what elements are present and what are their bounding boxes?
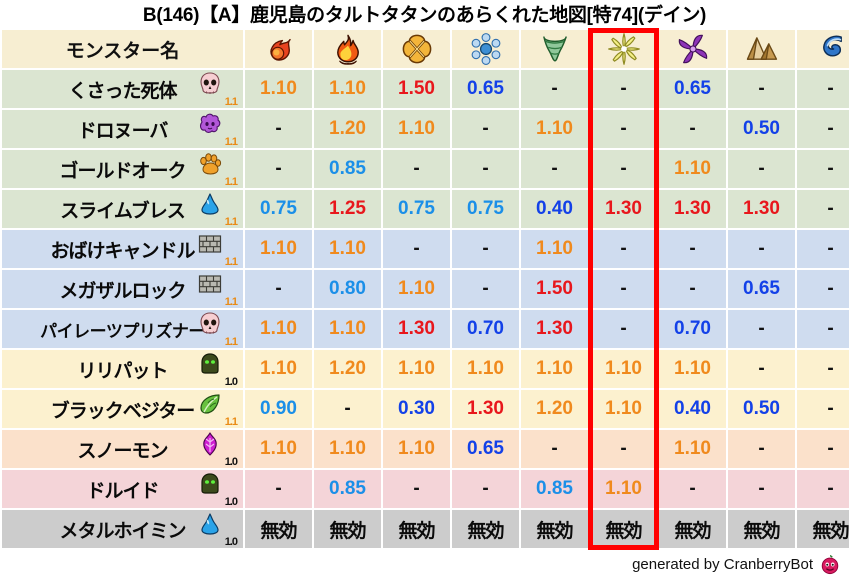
- damage-cell: -: [797, 230, 849, 268]
- monster-name-cell[interactable]: ドルイド 1.0: [2, 470, 243, 508]
- monster-version-label: 1.1: [225, 217, 237, 228]
- table-header-row: モンスター名: [2, 30, 849, 68]
- damage-cell: 0.70: [659, 310, 726, 348]
- damage-cell: -: [245, 470, 312, 508]
- damage-cell: 1.10: [590, 350, 657, 388]
- slime-icon: [197, 191, 223, 217]
- monster-name-label: スライムブレス: [60, 196, 184, 223]
- damage-cell: 1.10: [314, 70, 381, 108]
- damage-cell: -: [659, 270, 726, 308]
- damage-cell: 0.70: [452, 310, 519, 348]
- monster-version-label: 1.1: [225, 97, 237, 108]
- monster-family-badge: 1.0: [195, 351, 237, 387]
- damage-cell: -: [590, 230, 657, 268]
- damage-cell: 1.10: [383, 270, 450, 308]
- damage-cell: 1.10: [383, 430, 450, 468]
- monster-name-label: ゴールドオーク: [59, 156, 185, 183]
- damage-cell: -: [797, 470, 849, 508]
- header-element-3[interactable]: [383, 30, 450, 68]
- light-star-icon: [607, 32, 641, 66]
- monster-version-label: 1.1: [225, 417, 237, 428]
- damage-cell: 0.30: [383, 390, 450, 428]
- damage-cell: -: [521, 150, 588, 188]
- monster-family-badge: 1.1: [195, 71, 237, 107]
- monster-name-label: パイレーツプリズナー: [40, 317, 205, 342]
- monster-family-badge: 1.0: [195, 431, 237, 467]
- mountain-icon: [745, 32, 779, 66]
- damage-cell: -: [728, 470, 795, 508]
- damage-cell: -: [797, 110, 849, 148]
- damage-cell: 無効: [728, 510, 795, 548]
- footer-text: generated by CranberryBot: [632, 556, 813, 573]
- damage-cell: -: [797, 350, 849, 388]
- damage-cell: 1.10: [383, 350, 450, 388]
- monster-family-badge: 1.1: [195, 271, 237, 307]
- damage-cell: 0.50: [728, 390, 795, 428]
- damage-cell: 1.10: [245, 430, 312, 468]
- damage-cell: 1.10: [590, 390, 657, 428]
- monster-family-badge: 1.0: [195, 471, 237, 507]
- damage-cell: 1.10: [521, 110, 588, 148]
- monster-name-cell[interactable]: おばけキャンドル 1.1: [2, 230, 243, 268]
- cranberry-icon: [819, 553, 841, 575]
- table-row: くさった死体 1.11.101.101.500.65--0.65--: [2, 70, 849, 108]
- damage-cell: 1.20: [521, 390, 588, 428]
- damage-cell: -: [728, 70, 795, 108]
- damage-cell: 1.20: [314, 350, 381, 388]
- damage-cell: 1.10: [590, 470, 657, 508]
- damage-cell: 1.10: [659, 350, 726, 388]
- monster-version-label: 1.1: [225, 257, 237, 268]
- table-row: ドルイド 1.0-0.85--0.851.10---: [2, 470, 849, 508]
- ice-icon: [469, 32, 503, 66]
- damage-cell: 無効: [245, 510, 312, 548]
- monster-name-cell[interactable]: スライムブレス 1.1: [2, 190, 243, 228]
- damage-cell: 1.10: [245, 70, 312, 108]
- damage-cell: 0.40: [659, 390, 726, 428]
- monster-name-cell[interactable]: メガザルロック 1.1: [2, 270, 243, 308]
- header-monster-name: モンスター名: [2, 30, 243, 68]
- flame-icon: [331, 32, 365, 66]
- table-row: リリパット 1.01.101.201.101.101.101.101.10--: [2, 350, 849, 388]
- monster-name-cell[interactable]: ゴールドオーク 1.1: [2, 150, 243, 188]
- damage-cell: -: [728, 150, 795, 188]
- damage-cell: -: [452, 270, 519, 308]
- skull-icon: [197, 71, 223, 97]
- damage-cell: -: [728, 350, 795, 388]
- damage-cell: 1.30: [452, 390, 519, 428]
- damage-cell: -: [521, 430, 588, 468]
- damage-cell: 無効: [590, 510, 657, 548]
- monster-name-cell[interactable]: パイレーツプリズナー 1.1: [2, 310, 243, 348]
- damage-cell: -: [383, 470, 450, 508]
- damage-cell: -: [728, 430, 795, 468]
- damage-cell: -: [590, 70, 657, 108]
- damage-cell: 1.10: [521, 230, 588, 268]
- bud-icon: [197, 431, 223, 457]
- amoeba-icon: [197, 111, 223, 137]
- monster-name-label: メタルホイミン: [59, 516, 185, 543]
- table-row: ドロヌーバ 1.1-1.201.10-1.10--0.50-: [2, 110, 849, 148]
- damage-cell: -: [383, 230, 450, 268]
- monster-name-label: おばけキャンドル: [50, 236, 194, 263]
- damage-cell: 無効: [452, 510, 519, 548]
- damage-cell: -: [452, 110, 519, 148]
- damage-cell: -: [245, 270, 312, 308]
- slime-icon: [197, 511, 223, 537]
- damage-cell: -: [452, 230, 519, 268]
- explosion-icon: [400, 32, 434, 66]
- monster-version-label: 1.0: [225, 457, 237, 468]
- damage-cell: 1.30: [590, 190, 657, 228]
- header-element-4[interactable]: [452, 30, 519, 68]
- damage-cell: 1.30: [521, 310, 588, 348]
- header-element-8[interactable]: [728, 30, 795, 68]
- header-element-9[interactable]: [797, 30, 849, 68]
- header-element-6[interactable]: [590, 30, 657, 68]
- brick-icon: [197, 271, 223, 297]
- damage-cell: -: [314, 390, 381, 428]
- monster-version-label: 1.1: [225, 297, 237, 308]
- monster-name-cell[interactable]: スノーモン 1.0: [2, 430, 243, 468]
- table-row: スノーモン 1.01.101.101.100.65--1.10--: [2, 430, 849, 468]
- damage-cell: 1.50: [521, 270, 588, 308]
- table-row: メタルホイミン 1.0無効無効無効無効無効無効無効無効無効: [2, 510, 849, 548]
- damage-cell: 1.30: [383, 310, 450, 348]
- monster-name-label: ドルイド: [86, 476, 158, 503]
- leaf-icon: [197, 391, 223, 417]
- monster-family-badge: 1.1: [195, 391, 237, 427]
- damage-cell: -: [245, 150, 312, 188]
- damage-cell: 無効: [383, 510, 450, 548]
- damage-cell: -: [797, 310, 849, 348]
- damage-cell: -: [452, 150, 519, 188]
- monster-name-label: くさった死体: [68, 76, 176, 103]
- damage-cell: -: [590, 110, 657, 148]
- damage-cell: -: [797, 430, 849, 468]
- brick-icon: [197, 231, 223, 257]
- damage-cell: 1.10: [659, 150, 726, 188]
- monster-name-label: ドロヌーバ: [78, 116, 168, 143]
- monster-family-badge: 1.0: [195, 511, 237, 547]
- damage-cell: -: [383, 150, 450, 188]
- monster-name-label: ブラックベジター: [51, 396, 195, 423]
- damage-cell: 0.85: [314, 150, 381, 188]
- damage-cell: 0.85: [314, 470, 381, 508]
- damage-cell: 1.10: [245, 310, 312, 348]
- header-element-1[interactable]: [245, 30, 312, 68]
- damage-cell: -: [590, 310, 657, 348]
- damage-cell: 0.75: [245, 190, 312, 228]
- damage-cell: -: [797, 270, 849, 308]
- damage-cell: 0.85: [521, 470, 588, 508]
- damage-cell: 1.10: [314, 230, 381, 268]
- damage-cell: 無効: [521, 510, 588, 548]
- damage-cell: -: [728, 310, 795, 348]
- monster-version-label: 1.0: [225, 537, 237, 548]
- monster-version-label: 1.0: [225, 377, 237, 388]
- damage-cell: -: [797, 150, 849, 188]
- skull-icon: [197, 311, 223, 337]
- damage-cell: 0.65: [659, 70, 726, 108]
- damage-cell: 1.10: [314, 430, 381, 468]
- damage-cell: 0.90: [245, 390, 312, 428]
- monster-family-badge: 1.1: [195, 111, 237, 147]
- damage-cell: -: [590, 430, 657, 468]
- damage-cell: 0.65: [452, 70, 519, 108]
- monster-name-cell[interactable]: ブラックベジター 1.1: [2, 390, 243, 428]
- damage-cell: 1.20: [314, 110, 381, 148]
- damage-cell: 1.25: [314, 190, 381, 228]
- wave-icon: [814, 32, 848, 66]
- damage-cell: -: [245, 110, 312, 148]
- damage-cell: -: [590, 270, 657, 308]
- damage-cell: 1.10: [452, 350, 519, 388]
- table-row: メガザルロック 1.1-0.801.10-1.50--0.65-: [2, 270, 849, 308]
- header-element-7[interactable]: [659, 30, 726, 68]
- page-title: B(146)【A】鹿児島のタルトタタンのあらくれた地図[特74](デイン): [0, 0, 849, 28]
- damage-cell: 1.10: [659, 430, 726, 468]
- monster-family-badge: 1.1: [195, 311, 237, 347]
- damage-matrix-wrap: モンスター名: [0, 28, 849, 550]
- damage-cell: 1.30: [659, 190, 726, 228]
- monster-name-cell[interactable]: くさった死体 1.1: [2, 70, 243, 108]
- damage-matrix-table: モンスター名: [0, 28, 849, 550]
- damage-cell: -: [659, 110, 726, 148]
- monster-name-label: スノーモン: [77, 436, 167, 463]
- table-body: くさった死体 1.11.101.101.500.65--0.65--ドロヌーバ …: [2, 70, 849, 548]
- monster-version-label: 1.1: [225, 177, 237, 188]
- damage-cell: -: [728, 230, 795, 268]
- monster-name-cell[interactable]: リリパット 1.0: [2, 350, 243, 388]
- damage-cell: 1.10: [245, 230, 312, 268]
- damage-cell: 1.30: [728, 190, 795, 228]
- damage-cell: -: [521, 70, 588, 108]
- damage-cell: 1.50: [383, 70, 450, 108]
- damage-cell: 無効: [314, 510, 381, 548]
- table-row: スライムブレス 1.10.751.250.750.750.401.301.301…: [2, 190, 849, 228]
- damage-cell: -: [797, 190, 849, 228]
- paw-icon: [197, 151, 223, 177]
- damage-cell: -: [797, 70, 849, 108]
- monster-family-badge: 1.1: [195, 151, 237, 187]
- monster-version-label: 1.0: [225, 497, 237, 508]
- damage-cell: -: [590, 150, 657, 188]
- footer: generated by CranberryBot: [632, 549, 841, 579]
- damage-cell: 0.40: [521, 190, 588, 228]
- wind-swirl-icon: [676, 32, 710, 66]
- damage-cell: -: [659, 470, 726, 508]
- table-row: おばけキャンドル 1.11.101.10--1.10----: [2, 230, 849, 268]
- monster-version-label: 1.1: [225, 137, 237, 148]
- table-row: パイレーツプリズナー 1.11.101.101.300.701.30-0.70-…: [2, 310, 849, 348]
- damage-cell: 1.10: [383, 110, 450, 148]
- header-element-5[interactable]: [521, 30, 588, 68]
- damage-cell: 無効: [797, 510, 849, 548]
- monster-family-badge: 1.1: [195, 191, 237, 227]
- damage-cell: 0.75: [383, 190, 450, 228]
- ghost-icon: [197, 471, 223, 497]
- damage-cell: 0.65: [452, 430, 519, 468]
- monster-name-cell[interactable]: ドロヌーバ 1.1: [2, 110, 243, 148]
- damage-cell: 無効: [659, 510, 726, 548]
- damage-cell: 0.50: [728, 110, 795, 148]
- header-element-2[interactable]: [314, 30, 381, 68]
- damage-cell: -: [659, 230, 726, 268]
- damage-cell: 1.10: [314, 310, 381, 348]
- table-row: ブラックベジター 1.10.90-0.301.301.201.100.400.5…: [2, 390, 849, 428]
- ghost-icon: [197, 351, 223, 377]
- monster-name-cell[interactable]: メタルホイミン 1.0: [2, 510, 243, 548]
- fireball-icon: [262, 32, 296, 66]
- damage-cell: 1.10: [521, 350, 588, 388]
- damage-cell: 1.10: [245, 350, 312, 388]
- tornado-icon: [538, 32, 572, 66]
- monster-family-badge: 1.1: [195, 231, 237, 267]
- monster-version-label: 1.1: [225, 337, 237, 348]
- damage-cell: -: [452, 470, 519, 508]
- damage-cell: 0.65: [728, 270, 795, 308]
- monster-name-label: メガザルロック: [59, 276, 185, 303]
- table-row: ゴールドオーク 1.1-0.85----1.10--: [2, 150, 849, 188]
- damage-cell: 0.80: [314, 270, 381, 308]
- damage-cell: -: [797, 390, 849, 428]
- monster-name-label: リリパット: [77, 356, 167, 383]
- damage-cell: 0.75: [452, 190, 519, 228]
